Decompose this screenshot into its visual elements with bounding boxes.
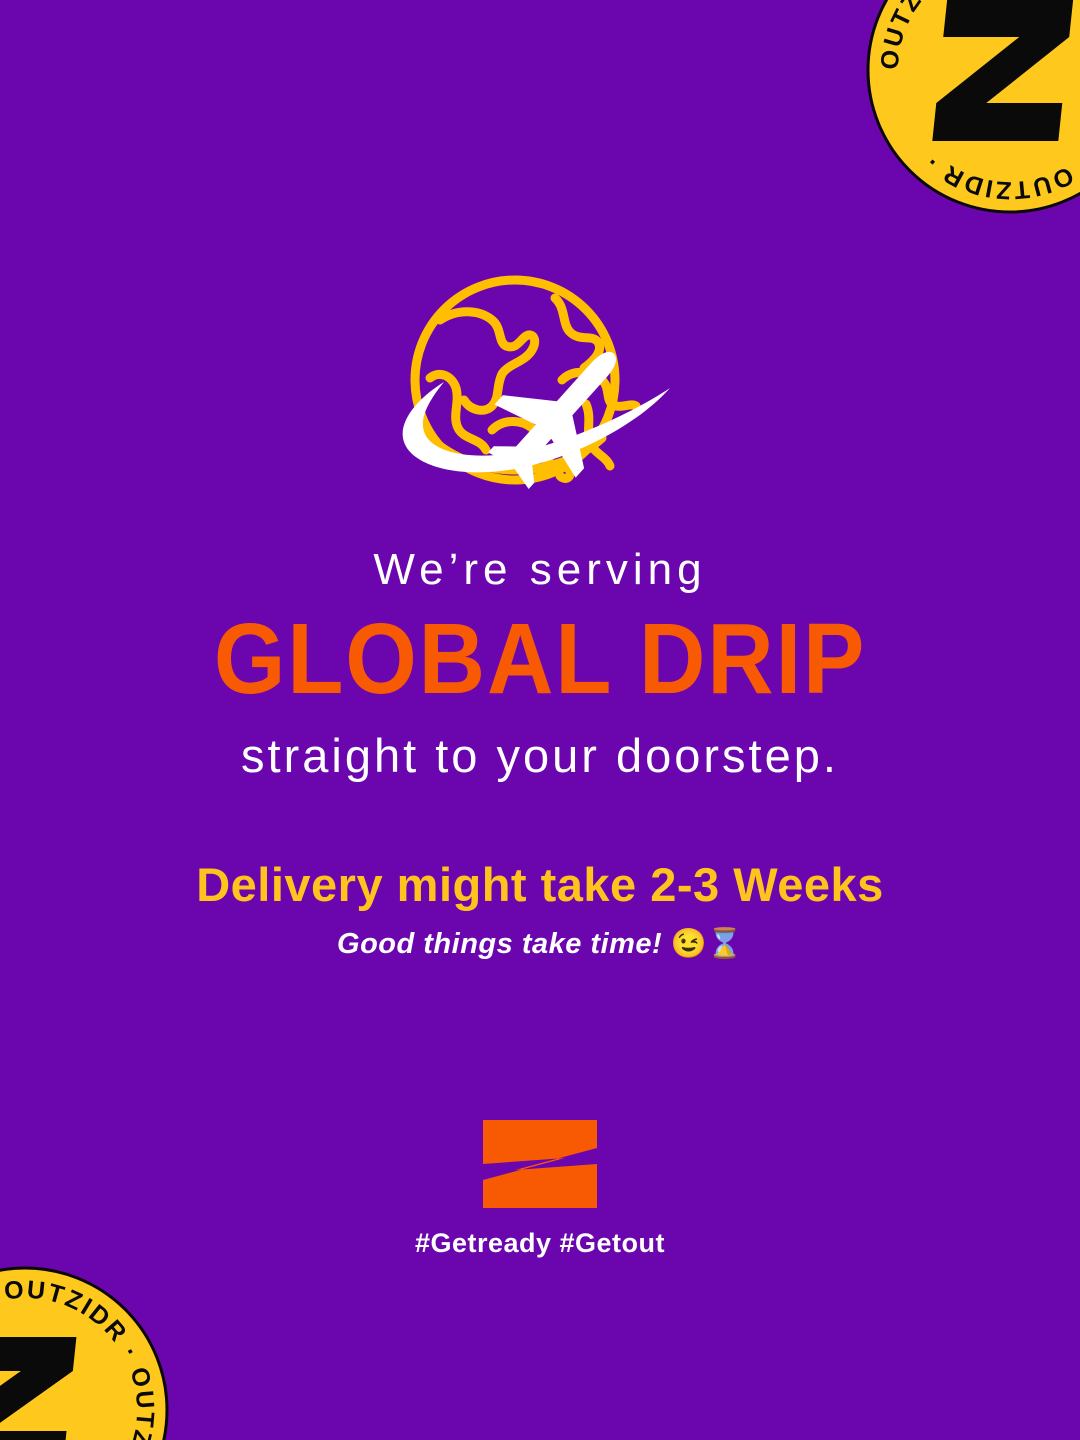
hashtags-text: #Getready #Getout — [0, 1228, 1080, 1259]
badge-center-z-bottom-left — [0, 1337, 76, 1440]
badge-bottom-left: OUTZIDR · OUTZIDR · OUTZIDR · OUTZIDR · … — [0, 1265, 170, 1440]
z-logo-icon — [479, 1118, 601, 1210]
footer-block: #Getready #Getout — [0, 1118, 1080, 1259]
badge-center-z-top-right — [932, 0, 1073, 141]
badge-ring-text-bottom-left: OUTZIDR · OUTZIDR · OUTZIDR · OUTZIDR · — [0, 1276, 159, 1440]
poster-canvas: OUTZIDR · OUTZIDR · OUTZIDR · OUTZIDR · … — [0, 0, 1080, 1440]
page-title: GLOBAL DRIP — [43, 608, 1037, 710]
globe-airplane-icon — [340, 270, 740, 520]
subheadline-text: straight to your doorstep. — [0, 732, 1080, 779]
eyebrow-text: We’re serving — [0, 548, 1080, 592]
copy-block: We’re serving GLOBAL DRIP straight to yo… — [0, 548, 1080, 959]
tagline-emoji: 😉⌛ — [671, 928, 743, 960]
tagline-text: Good things take time! — [337, 928, 662, 960]
badge-top-right: OUTZIDR · OUTZIDR · OUTZIDR · OUTZIDR · — [865, 0, 1080, 215]
badge-ring-text-top-right: OUTZIDR · OUTZIDR · OUTZIDR · OUTZIDR · — [876, 0, 1080, 204]
tagline: Good things take time! 😉⌛ — [0, 930, 1080, 959]
delivery-note: Delivery might take 2-3 Weeks — [0, 861, 1080, 908]
